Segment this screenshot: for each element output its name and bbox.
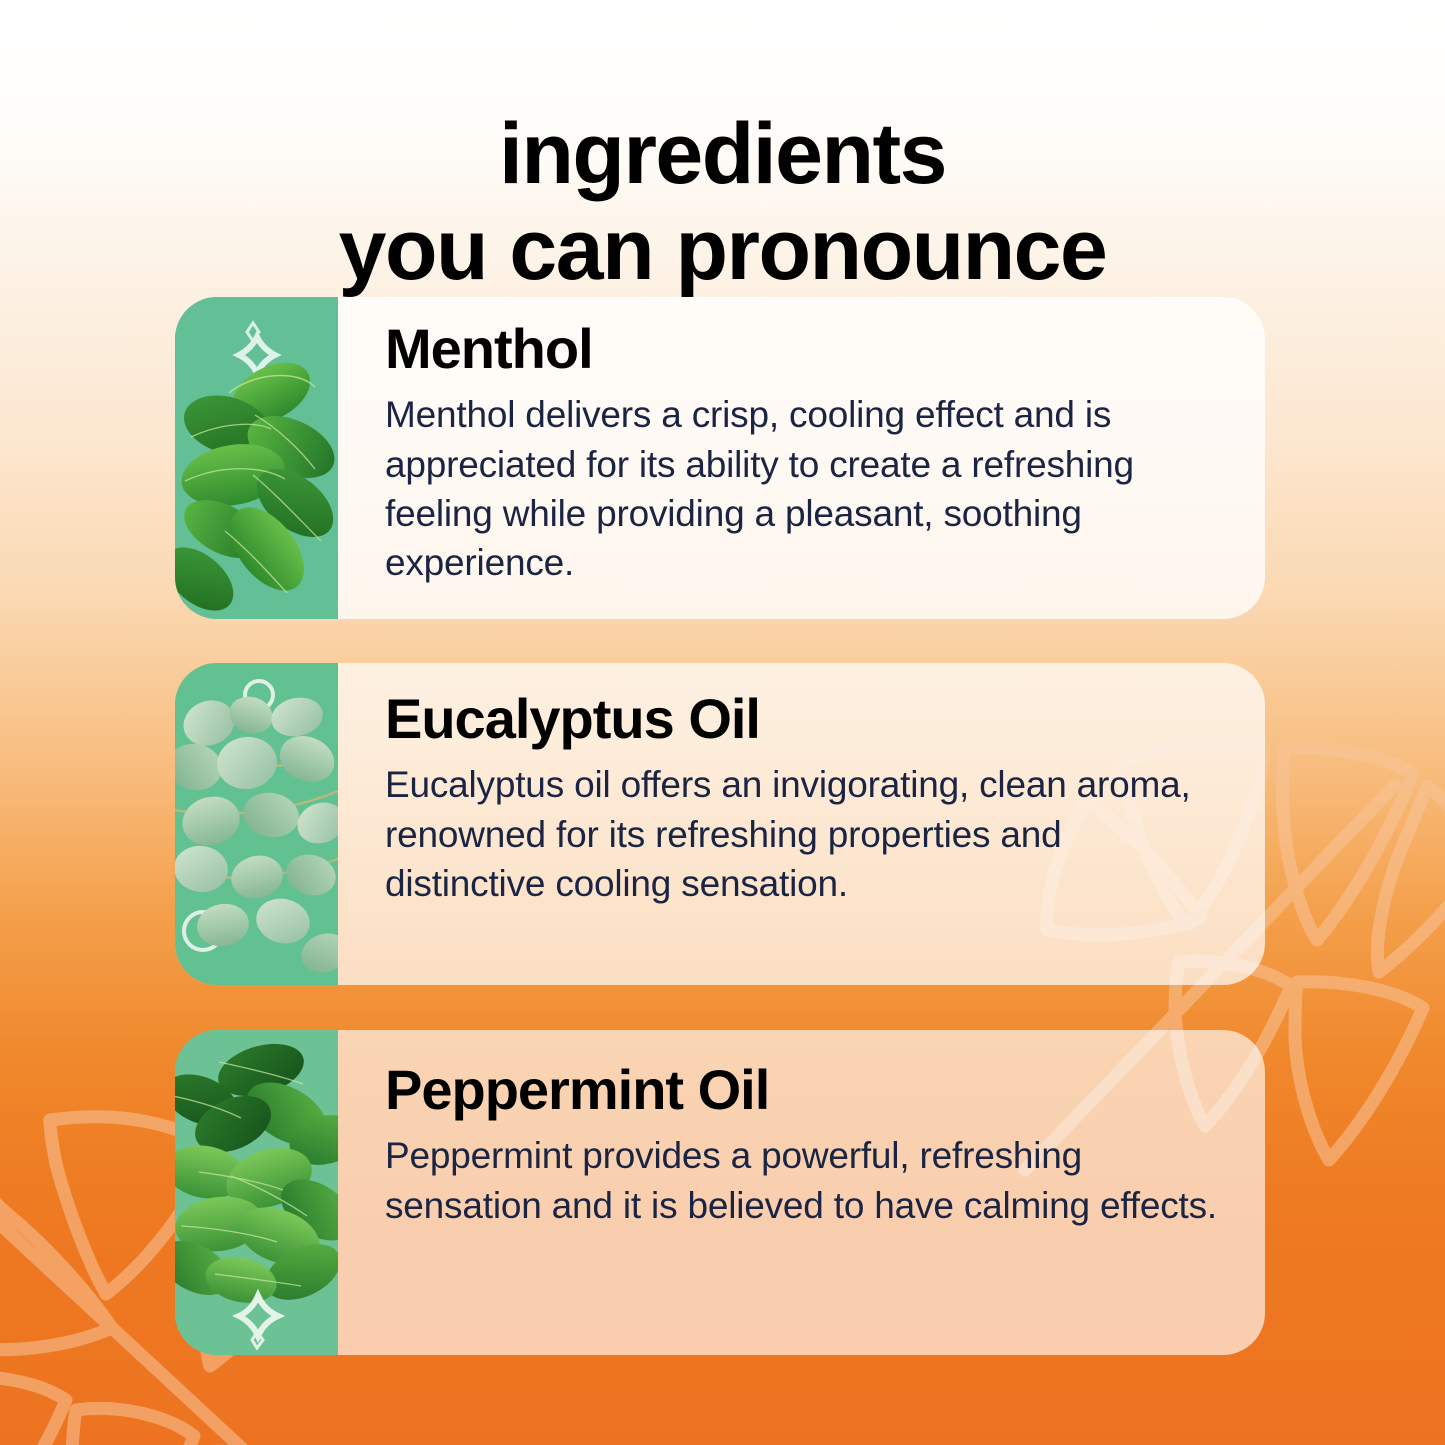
ingredient-card-menthol: Menthol Menthol delivers a crisp, coolin… — [175, 297, 1265, 619]
mint-leaves-illustration — [175, 297, 338, 619]
headline-line-1: ingredients — [0, 106, 1445, 202]
headline-line-2: you can pronounce — [0, 202, 1445, 298]
ingredient-title: Eucalyptus Oil — [385, 689, 1225, 748]
mint-leaves-photo — [175, 297, 338, 619]
ingredient-card-eucalyptus-oil: Eucalyptus Oil Eucalyptus oil offers an … — [175, 663, 1265, 985]
ingredient-card-peppermint-oil: Peppermint Oil Peppermint provides a pow… — [175, 1030, 1265, 1355]
card-body: Peppermint Oil Peppermint provides a pow… — [338, 1030, 1265, 1355]
eucalyptus-leaves-illustration — [175, 663, 338, 985]
card-body: Menthol Menthol delivers a crisp, coolin… — [338, 297, 1265, 619]
ingredients-poster: ingredients you can pronounce — [0, 0, 1445, 1445]
ingredient-description: Eucalyptus oil offers an invigorating, c… — [385, 760, 1225, 908]
peppermint-leaves-photo — [175, 1030, 338, 1355]
ingredient-description: Menthol delivers a crisp, cooling effect… — [385, 390, 1225, 587]
ingredient-title: Menthol — [385, 319, 1225, 378]
ingredient-description: Peppermint provides a powerful, refreshi… — [385, 1131, 1225, 1229]
peppermint-leaves-illustration — [175, 1030, 338, 1355]
ingredient-title: Peppermint Oil — [385, 1060, 1225, 1119]
card-body: Eucalyptus Oil Eucalyptus oil offers an … — [338, 663, 1265, 985]
page-title: ingredients you can pronounce — [0, 106, 1445, 299]
eucalyptus-leaves-photo — [175, 663, 338, 985]
